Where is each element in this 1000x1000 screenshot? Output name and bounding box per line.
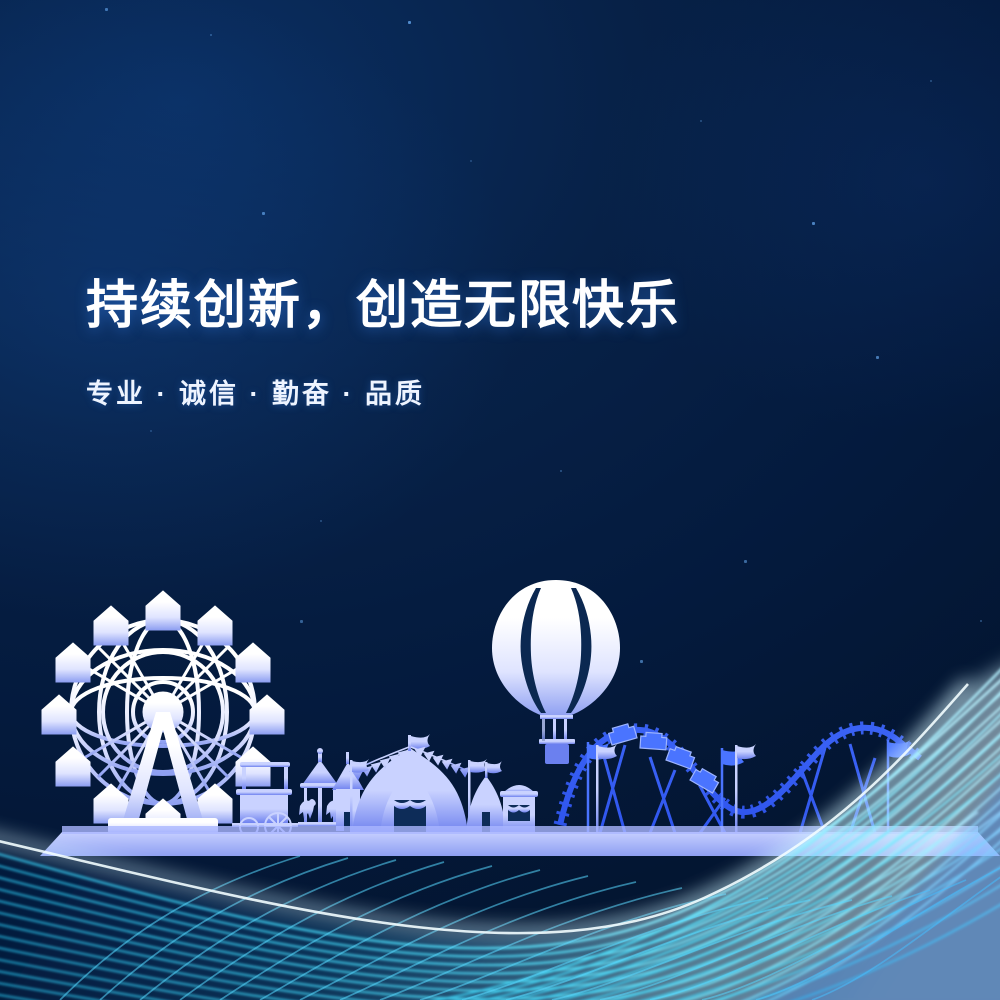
poster-canvas: 持续创新，创造无限快乐 专业 · 诚信 · 勤奋 · 品质 xyxy=(0,0,1000,1000)
neon-wave-layer xyxy=(0,0,1000,1000)
